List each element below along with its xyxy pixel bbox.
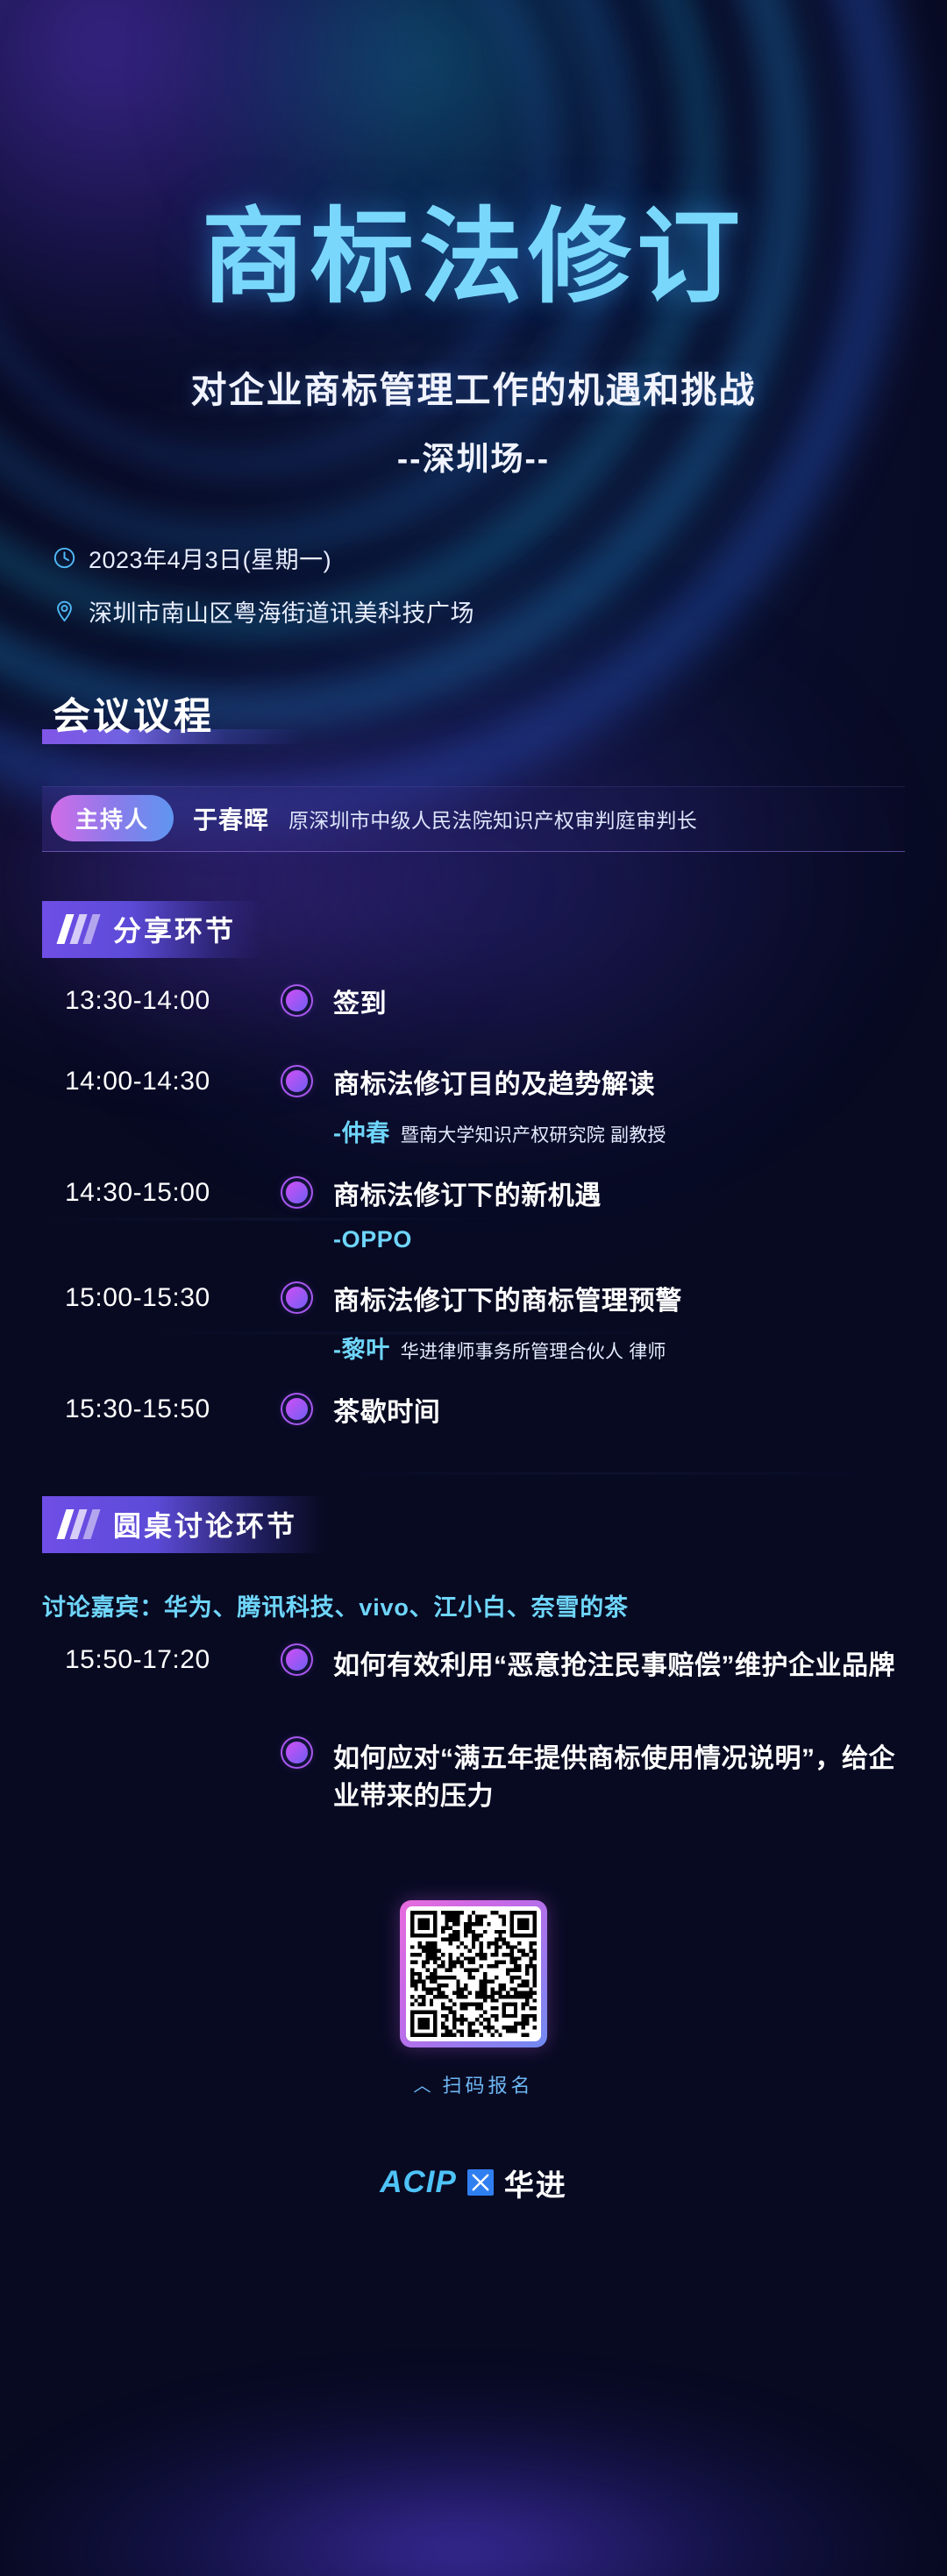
timeline-time: 15:30-15:50 (46, 1396, 275, 1423)
timeline-body: 如何应对“满五年提供商标使用情况说明”，给企业带来的压力 (317, 1740, 905, 1815)
section-tag-sharing-label: 分享环节 (113, 909, 236, 949)
roundtable-guests: 讨论嘉宾：华为、腾讯科技、vivo、江小白、奈雪的茶 (42, 1588, 905, 1622)
timeline-dot-cell (275, 1180, 317, 1203)
poster-canvas: 商标法修订 对企业商标管理工作的机遇和挑战 --深圳场-- 2023年4月3日(… (0, 0, 947, 2576)
section-tag-roundtable-label: 圆桌讨论环节 (113, 1504, 297, 1544)
timeline-time: 15:50-17:20 (46, 1647, 275, 1673)
map-pin-icon (53, 600, 76, 623)
spacer (46, 1365, 905, 1396)
timeline-dot-cell (275, 1647, 317, 1671)
timeline-dot-cell (275, 1396, 317, 1420)
spacer (46, 1032, 905, 1068)
host-badge: 主持人 (51, 795, 174, 841)
timeline-dot-cell (275, 1285, 317, 1309)
timeline-title: 茶歇时间 (333, 1396, 905, 1430)
timeline-body: 商标法修订下的商标管理预警 -黎叶 华进律师事务所管理合伙人 律师 (317, 1285, 905, 1365)
timeline-dot-cell (275, 1740, 317, 1763)
spacer (46, 1148, 905, 1180)
event-location-text: 深圳市南山区粤海街道讯美科技广场 (89, 594, 474, 628)
timeline-title: 商标法修订目的及趋势解读 (333, 1068, 905, 1102)
timeline-row: 15:30-15:50 茶歇时间 (46, 1396, 905, 1440)
timeline-dot-icon (286, 990, 308, 1011)
timeline-speaker-row: -OPPO (333, 1226, 905, 1253)
brand-acip-text: ACIP (380, 2165, 457, 2200)
timeline-dot-icon (286, 1398, 308, 1420)
section-tag-roundtable: 圆桌讨论环节 (42, 1496, 324, 1553)
event-date-row: 2023年4月3日(星期一) (53, 541, 905, 575)
timeline-time: 15:00-15:30 (46, 1285, 275, 1311)
timeline-sharing: 13:30-14:00 签到 14:00-14:30 商标法修订目的及趋势解读 … (42, 988, 905, 1440)
slash-marks-icon (61, 1509, 96, 1539)
timeline-row: 13:30-14:00 签到 (46, 988, 905, 1032)
timeline-row: 15:50-17:20 如何有效利用“恶意抢注民事赔偿”维护企业品牌 (46, 1647, 905, 1691)
qr-code-frame[interactable] (400, 1900, 547, 2047)
timeline-title: 商标法修订下的新机遇 (333, 1180, 905, 1213)
timeline-speaker-row: -仲春 暨南大学知识产权研究院 副教授 (333, 1114, 905, 1148)
qr-code-inner (406, 1906, 541, 2041)
event-location-row: 深圳市南山区粤海街道讯美科技广场 (53, 594, 905, 628)
subtitle-city: --深圳场-- (42, 432, 905, 479)
timeline-dot-icon (286, 1649, 308, 1671)
brand-mark-icon (467, 2169, 494, 2196)
timeline-title: 签到 (333, 988, 905, 1021)
caret-up-icon: ︿ (413, 2071, 434, 2097)
timeline-body: 如何有效利用“恶意抢注民事赔偿”维护企业品牌 (317, 1647, 905, 1685)
timeline-dot-cell (275, 988, 317, 1011)
timeline-body: 商标法修订目的及趋势解读 -仲春 暨南大学知识产权研究院 副教授 (317, 1068, 905, 1148)
timeline-time: 13:30-14:00 (46, 988, 275, 1014)
spacer (46, 1691, 905, 1740)
event-meta: 2023年4月3日(星期一) 深圳市南山区粤海街道讯美科技广场 (42, 541, 905, 628)
scan-prompt-label: 扫码报名 (442, 2070, 533, 2098)
event-date-text: 2023年4月3日(星期一) (89, 541, 331, 575)
timeline-time: 14:00-14:30 (46, 1068, 275, 1095)
host-name: 于春晖 (193, 801, 269, 836)
subtitle-primary: 对企业商标管理工作的机遇和挑战 (42, 360, 905, 413)
speaker-name: -黎叶 (333, 1331, 390, 1365)
speaker-name: -仲春 (333, 1114, 390, 1148)
title-block: 商标法修订 对企业商标管理工作的机遇和挑战 --深圳场-- (42, 0, 905, 479)
timeline-row: 如何应对“满五年提供商标使用情况说明”，给企业带来的压力 (46, 1740, 905, 1815)
roundtable-topic: 如何有效利用“恶意抢注民事赔偿”维护企业品牌 (333, 1647, 905, 1685)
timeline-time: 14:30-15:00 (46, 1180, 275, 1206)
timeline-body: 签到 (317, 988, 905, 1021)
qr-code[interactable] (410, 1911, 537, 2037)
timeline-dot-icon (286, 1070, 308, 1092)
section-tag-sharing: 分享环节 (42, 901, 262, 958)
brand-glyph-icon (471, 2173, 490, 2192)
slash-marks-icon (61, 914, 96, 944)
roundtable-topic: 如何应对“满五年提供商标使用情况说明”，给企业带来的压力 (333, 1740, 905, 1815)
host-row: 主持人 于春晖 原深圳市中级人民法院知识产权审判庭审判长 (42, 786, 905, 852)
timeline-dot-cell (275, 1068, 317, 1092)
scan-prompt: ︿ 扫码报名 (42, 2070, 905, 2098)
timeline-row: 14:30-15:00 商标法修订下的新机遇 -OPPO (46, 1180, 905, 1253)
brand-cn-text: 华进 (504, 2161, 567, 2204)
clock-icon (53, 546, 76, 570)
timeline-row: 15:00-15:30 商标法修订下的商标管理预警 -黎叶 华进律师事务所管理合… (46, 1285, 905, 1365)
timeline-dot-icon (286, 1182, 308, 1203)
timeline-row: 14:00-14:30 商标法修订目的及趋势解读 -仲春 暨南大学知识产权研究院… (46, 1068, 905, 1148)
speaker-name: -OPPO (333, 1226, 412, 1253)
timeline-dot-icon (286, 1742, 308, 1763)
timeline-body: 茶歇时间 (317, 1396, 905, 1430)
speaker-org: 暨南大学知识产权研究院 副教授 (401, 1121, 666, 1147)
page-title: 商标法修订 (42, 203, 905, 313)
timeline-title: 商标法修订下的商标管理预警 (333, 1285, 905, 1318)
spacer (46, 1253, 905, 1285)
timeline-dot-icon (286, 1287, 308, 1309)
host-title: 原深圳市中级人民法院知识产权审判庭审判长 (288, 804, 697, 834)
timeline-speaker-row: -黎叶 华进律师事务所管理合伙人 律师 (333, 1331, 905, 1365)
agenda-heading-text: 会议议程 (53, 696, 214, 738)
speaker-org: 华进律师事务所管理合伙人 律师 (401, 1338, 666, 1364)
footer: ︿ 扫码报名 ACIP 华进 (42, 1900, 905, 2204)
timeline-roundtable: 15:50-17:20 如何有效利用“恶意抢注民事赔偿”维护企业品牌 如何应对“… (42, 1647, 905, 1815)
brand-logo: ACIP 华进 (42, 2161, 905, 2204)
agenda-heading: 会议议程 (42, 686, 214, 741)
timeline-body: 商标法修订下的新机遇 -OPPO (317, 1180, 905, 1253)
